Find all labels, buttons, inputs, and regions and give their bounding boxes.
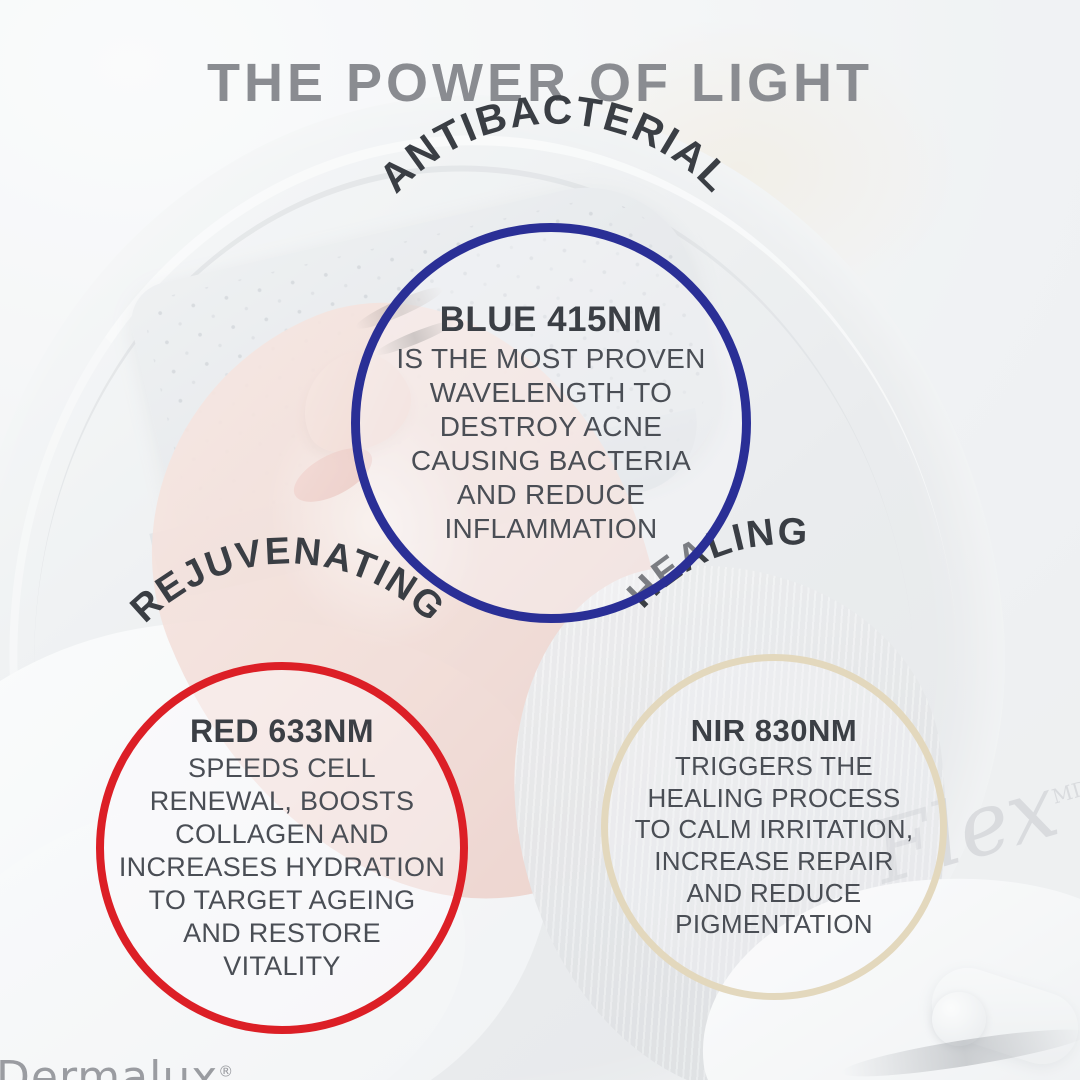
circle-line: AND RESTORE (119, 917, 445, 950)
circle-heading-nir: NIR 830NM (691, 713, 857, 749)
circle-line: RENEWAL, BOOSTS (119, 785, 445, 818)
wavelength-circle-nir[interactable]: NIR 830NM TRIGGERS THE HEALING PROCESS T… (601, 654, 947, 1000)
circle-line: AND REDUCE (635, 878, 914, 910)
circle-line: WAVELENGTH TO (396, 376, 705, 410)
brand-name: Dermalux (0, 1052, 218, 1080)
circle-line: TO TARGET AGEING (119, 884, 445, 917)
wavelength-circle-red[interactable]: RED 633NM SPEEDS CELL RENEWAL, BOOSTS CO… (96, 662, 468, 1034)
circle-line: AND REDUCE (396, 478, 705, 512)
circle-heading-red: RED 633NM (190, 713, 374, 750)
circle-line: VITALITY (119, 950, 445, 983)
circle-line: CAUSING BACTERIA (396, 444, 705, 478)
circle-line: DESTROY ACNE (396, 410, 705, 444)
circle-line: TRIGGERS THE (635, 751, 914, 783)
circle-line: COLLAGEN AND (119, 818, 445, 851)
circle-body-blue: IS THE MOST PROVEN WAVELENGTH TO DESTROY… (396, 342, 705, 547)
infographic-canvas: FlexMD THE POWER OF LIGHT ANTIBACTERIAL … (0, 0, 1080, 1080)
circle-body-nir: TRIGGERS THE HEALING PROCESS TO CALM IRR… (635, 751, 914, 941)
wavelength-circle-blue[interactable]: BLUE 415NM IS THE MOST PROVEN WAVELENGTH… (351, 223, 751, 623)
circle-line: INCREASES HYDRATION (119, 851, 445, 884)
circle-line: PIGMENTATION (635, 909, 914, 941)
circle-line: INFLAMMATION (396, 512, 705, 546)
circle-line: TO CALM IRRITATION, (635, 814, 914, 846)
circle-line: SPEEDS CELL (119, 752, 445, 785)
circle-line: INCREASE REPAIR (635, 846, 914, 878)
brand-logo: Dermalux® (0, 1052, 234, 1080)
circle-heading-blue: BLUE 415NM (440, 300, 663, 340)
circle-line: IS THE MOST PROVEN (396, 342, 705, 376)
brand-trademark: ® (218, 1062, 234, 1080)
circle-body-red: SPEEDS CELL RENEWAL, BOOSTS COLLAGEN AND… (119, 752, 445, 983)
circle-line: HEALING PROCESS (635, 783, 914, 815)
